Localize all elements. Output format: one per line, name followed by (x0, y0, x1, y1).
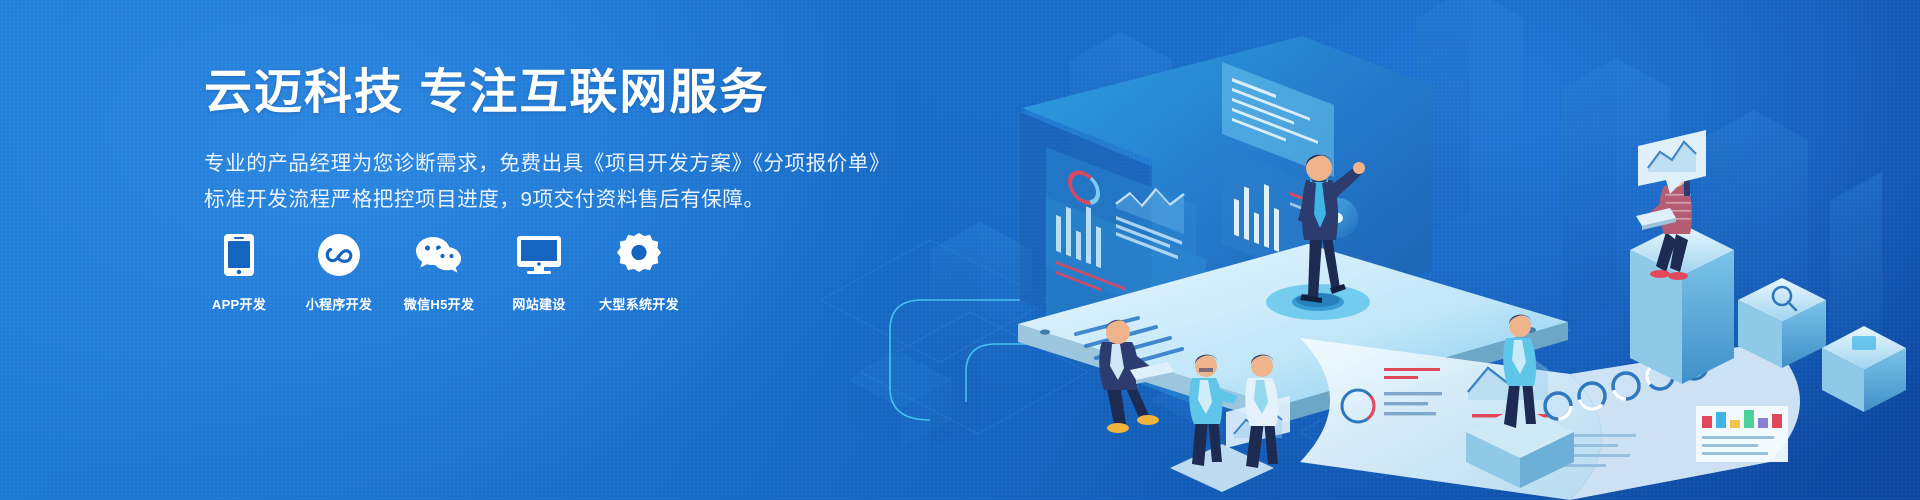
service-item-large-system[interactable]: 大型系统开发 (604, 232, 674, 313)
cube-small (1822, 326, 1906, 412)
service-label: 网站建设 (512, 294, 565, 313)
mobile-phone-icon (216, 232, 262, 278)
gear-icon (616, 232, 662, 278)
monitor-icon (516, 232, 562, 278)
subtitle-line-2: 标准开发流程严格把控项目进度，9项交付资料售后有保障。 (204, 182, 964, 218)
floating-chart-card (1638, 130, 1706, 194)
service-item-app[interactable]: APP开发 (204, 232, 274, 313)
service-list: APP开发 小程序开发 微信 (204, 232, 674, 313)
mini-program-icon (316, 232, 362, 278)
service-label: APP开发 (212, 294, 266, 313)
service-item-wechat-h5[interactable]: 微信H5开发 (404, 232, 474, 313)
isometric-tech-illustration (870, 0, 1920, 500)
banner-subtitle: 专业的产品经理为您诊断需求，免费出具《项目开发方案》《分项报价单》 标准开发流程… (204, 146, 964, 218)
service-label: 大型系统开发 (599, 294, 679, 313)
banner-text-block: 云迈科技 专注互联网服务 专业的产品经理为您诊断需求，免费出具《项目开发方案》《… (204, 66, 964, 218)
promo-banner: 云迈科技 专注互联网服务 专业的产品经理为您诊断需求，免费出具《项目开发方案》《… (0, 0, 1920, 500)
wechat-icon (416, 232, 462, 278)
service-label: 微信H5开发 (404, 294, 474, 313)
subtitle-line-1: 专业的产品经理为您诊断需求，免费出具《项目开发方案》《分项报价单》 (204, 146, 964, 182)
service-item-website[interactable]: 网站建设 (504, 232, 574, 313)
service-item-mini-program[interactable]: 小程序开发 (304, 232, 374, 313)
page-title: 云迈科技 专注互联网服务 (204, 66, 964, 120)
service-label: 小程序开发 (306, 294, 373, 313)
